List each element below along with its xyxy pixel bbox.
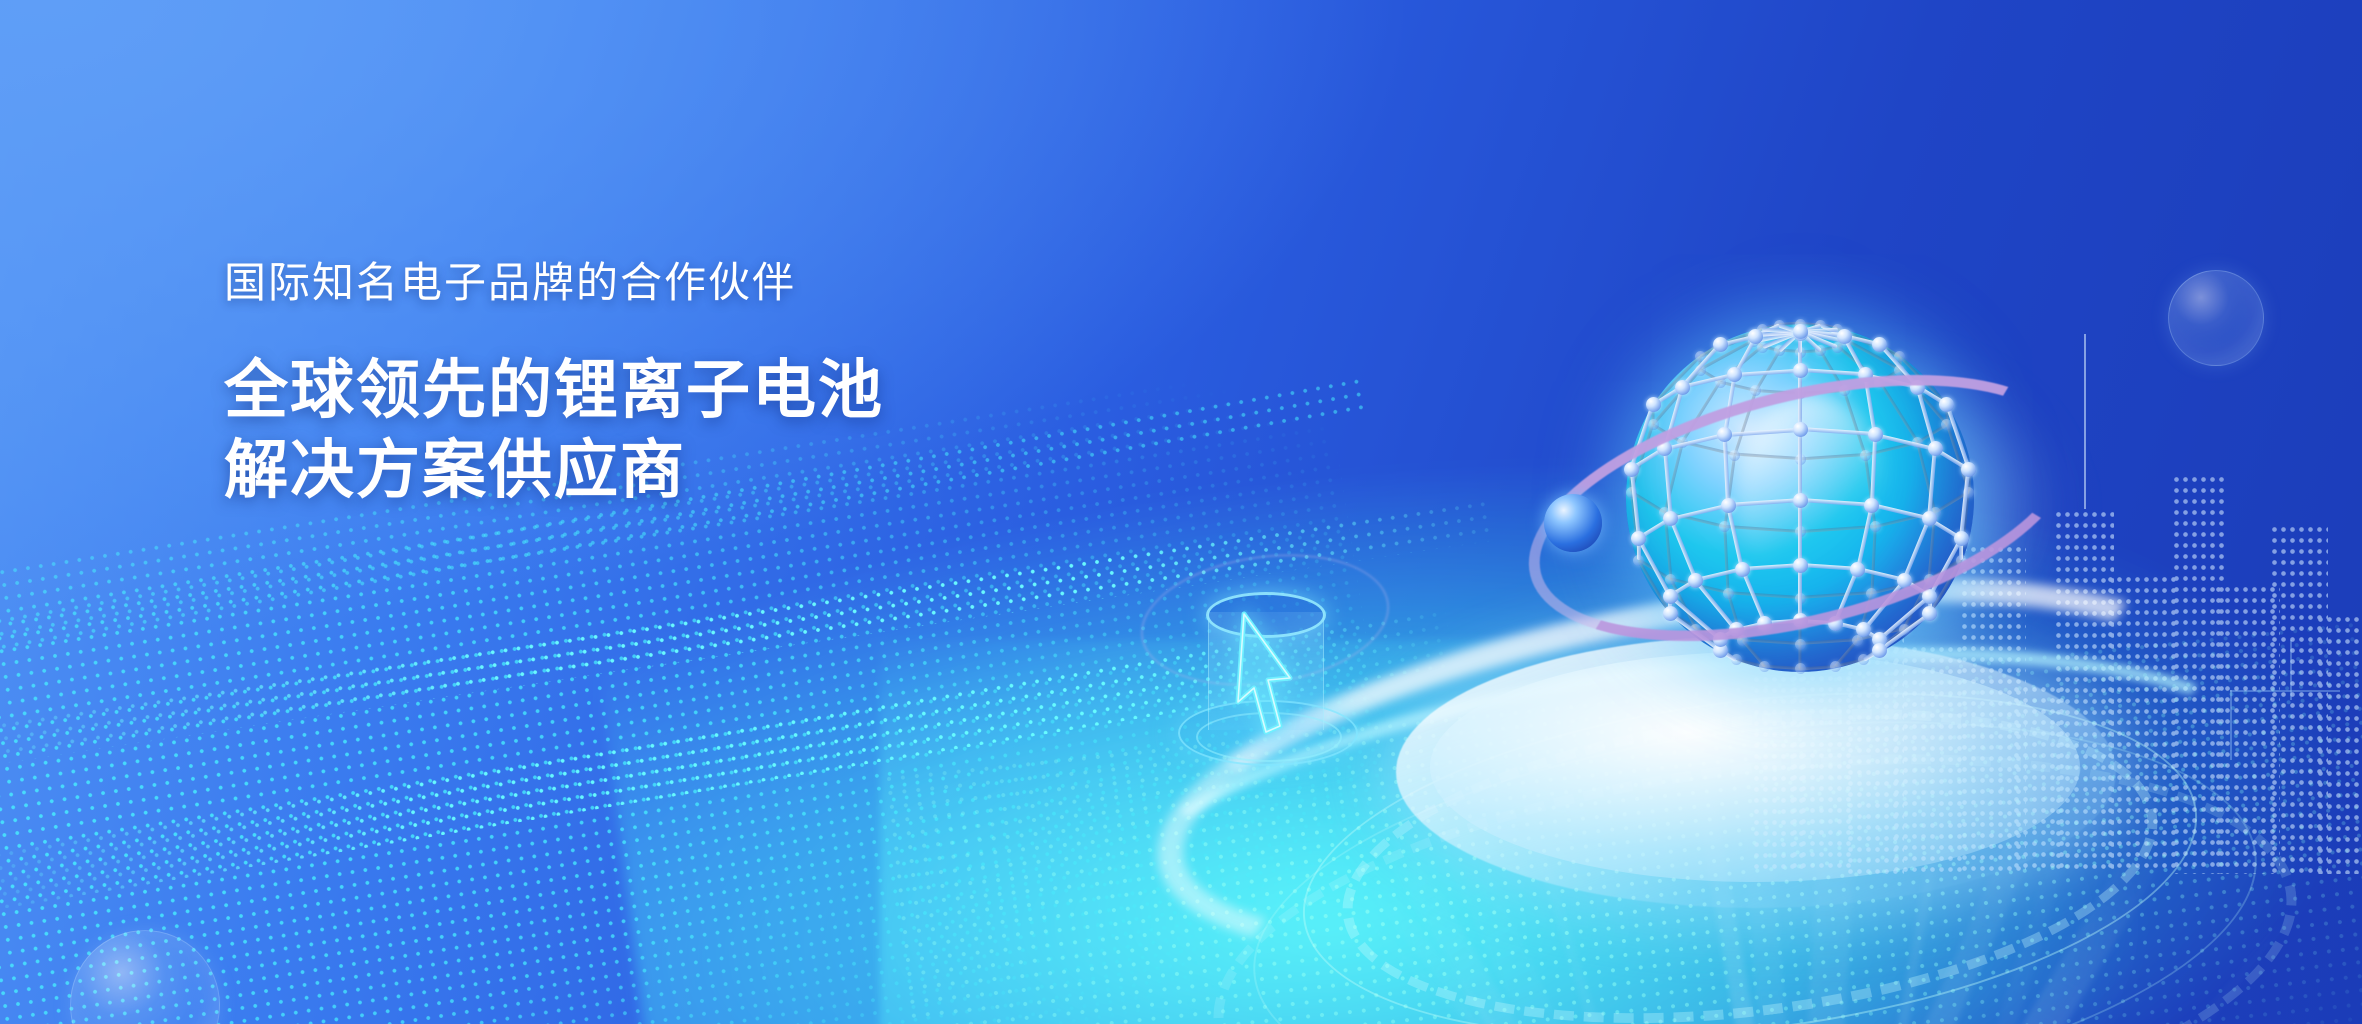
banner-eyebrow: 国际知名电子品牌的合作伙伴 [224,258,884,308]
headline-line-1: 全球领先的锂离子电池 [224,350,884,431]
wireframe-globe-icon [1600,298,2000,698]
globe-node [1646,397,1661,412]
cursor-arrow-icon [1228,600,1306,750]
globe-node [1795,663,1806,674]
globe-node [1713,337,1728,352]
globe-node [1675,380,1690,395]
orbit-node-icon [1544,494,1602,552]
hero-copy-block: 国际知名电子品牌的合作伙伴 全球领先的锂离子电池 解决方案供应商 [224,258,884,511]
globe-node [1793,363,1808,378]
banner-headline: 全球领先的锂离子电池 解决方案供应商 [224,350,884,511]
globe-node [1922,606,1937,621]
globe-node [1830,661,1841,672]
globe-node [1795,639,1806,650]
hero-banner: 国际知名电子品牌的合作伙伴 全球领先的锂离子电池 解决方案供应商 [0,0,2362,1024]
globe-node [1793,324,1808,339]
bubble-icon [2168,270,2264,366]
globe-node [1759,661,1770,672]
globe-node [1872,643,1887,658]
globe-node [1748,329,1763,344]
headline-line-2: 解决方案供应商 [224,430,884,511]
skyline-spire [2084,334,2086,509]
globe-node [1837,329,1852,344]
